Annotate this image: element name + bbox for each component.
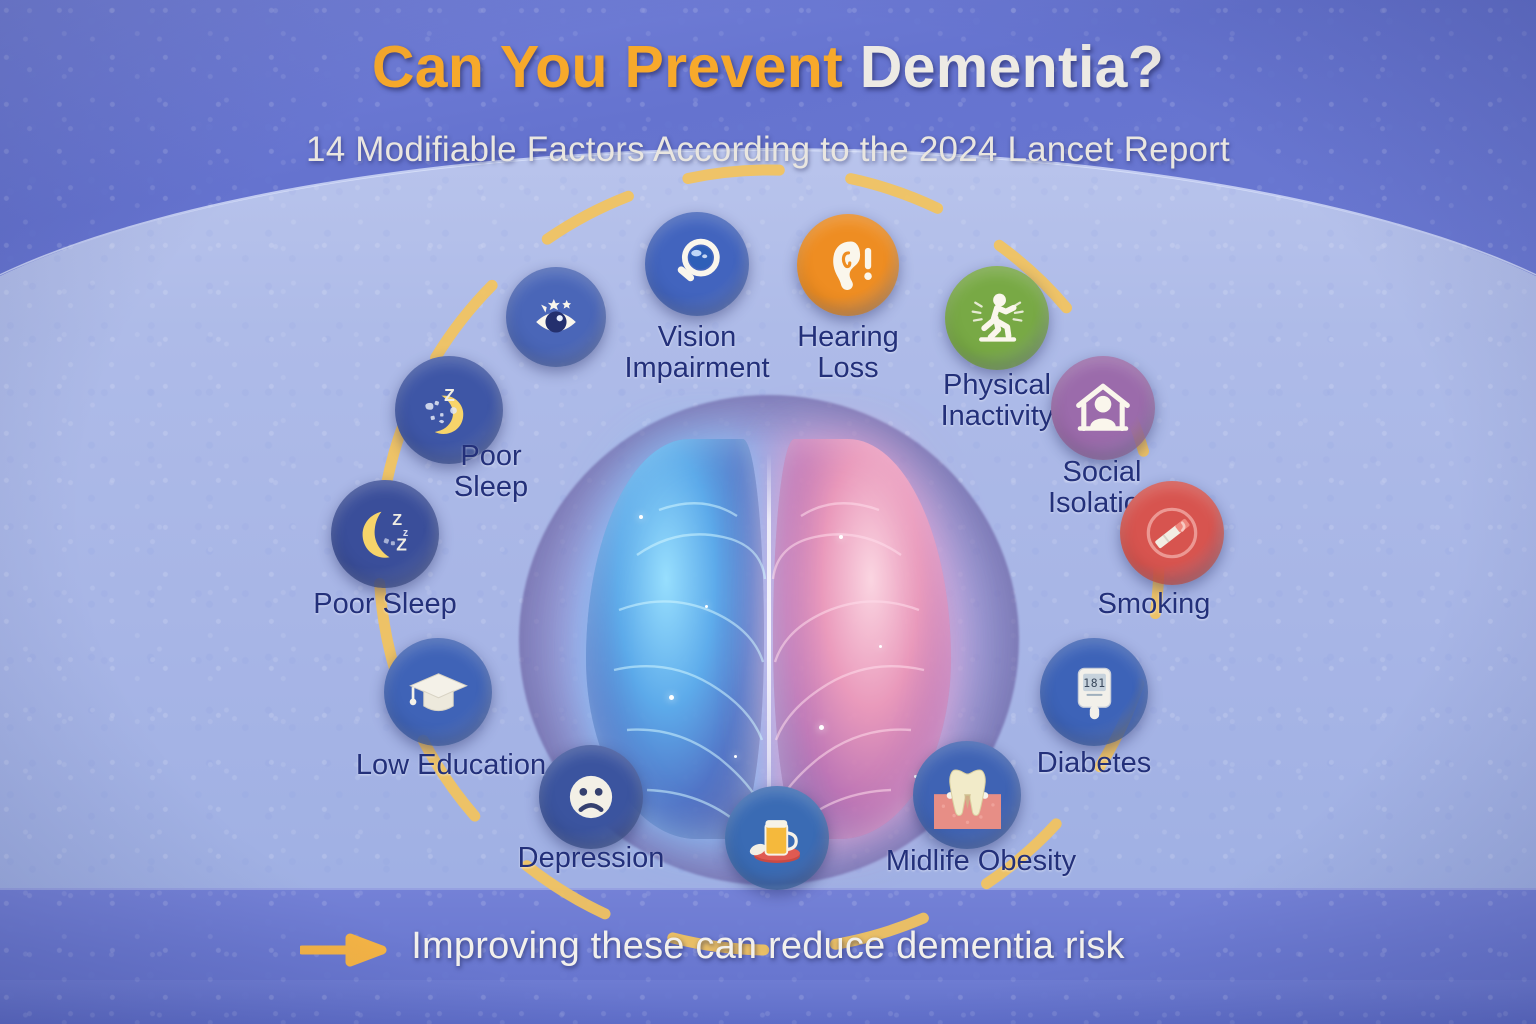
magnifier-icon[interactable]	[645, 212, 749, 316]
risk-factor-label-low-education: Low Education	[301, 750, 601, 781]
no-cigarette-icon[interactable]	[1120, 481, 1224, 585]
ear-icon[interactable]	[797, 214, 899, 316]
graduation-cap-icon[interactable]	[384, 638, 492, 746]
risk-factor-label-depression: Depression	[441, 843, 741, 874]
infographic-poster: Can You Prevent Dementia? 14 Modifiable …	[0, 0, 1536, 1024]
house-person-icon[interactable]	[1051, 356, 1155, 460]
running-person-icon[interactable]	[945, 266, 1049, 370]
risk-factor-label-poor-sleep-lower: Poor Sleep	[235, 589, 535, 620]
svg-text:Z: Z	[392, 511, 402, 529]
risk-factor-label-smoking: Smoking	[1004, 589, 1304, 620]
background-footer-strip	[0, 980, 1536, 1024]
page-title: Can You Prevent Dementia?	[0, 33, 1536, 101]
beer-mug-icon[interactable]	[725, 786, 829, 890]
title-plain-text: Dementia?	[860, 34, 1164, 100]
svg-text:Z: Z	[444, 385, 455, 405]
svg-text:181: 181	[1083, 676, 1106, 690]
tooth-icon[interactable]	[913, 741, 1021, 849]
svg-text:Z: Z	[396, 534, 407, 554]
risk-factor-label-midlife-obesity: Midlife Obesity	[831, 846, 1131, 877]
risk-factor-label-poor-sleep-upper: Poor Sleep	[341, 441, 641, 502]
title-accent-text: Can You Prevent	[372, 34, 860, 100]
page-subtitle: 14 Modifiable Factors According to the 2…	[0, 130, 1536, 170]
glucose-meter-icon[interactable]: 181	[1040, 638, 1148, 746]
footer-note: Improving these can reduce dementia risk	[0, 925, 1536, 968]
